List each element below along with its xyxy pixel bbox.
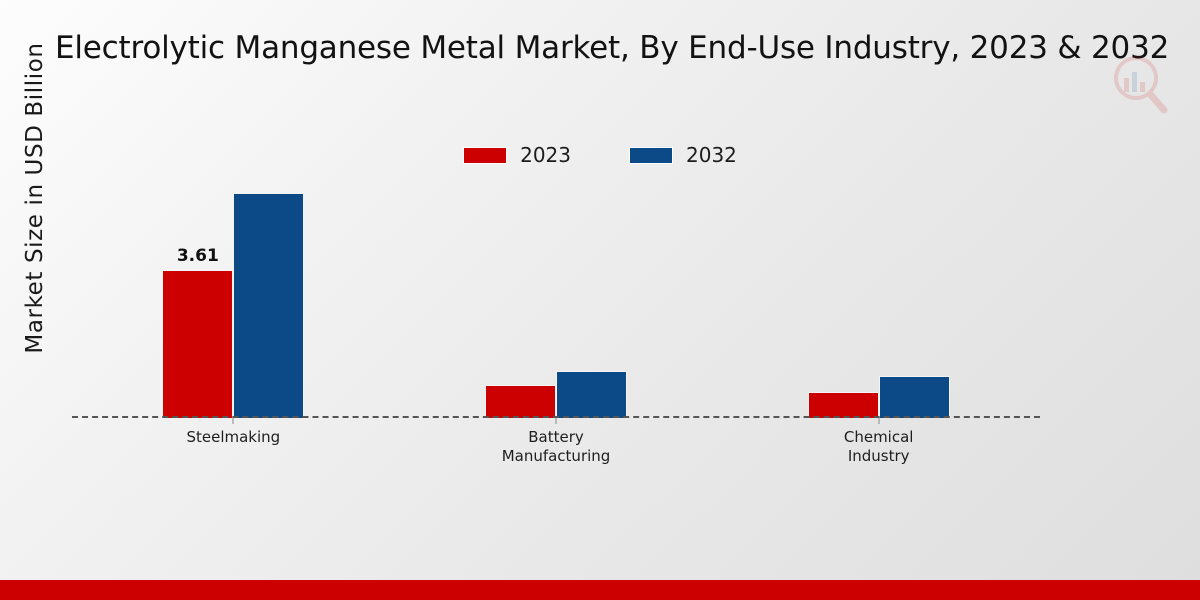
page-title: Electrolytic Manganese Metal Market, By …	[55, 30, 1145, 66]
bars	[395, 172, 718, 418]
bar-2032-steelmaking[interactable]	[233, 193, 304, 418]
bar-2032-battery-manufacturing[interactable]	[556, 371, 627, 418]
legend-item-2032[interactable]: 2032	[629, 143, 737, 167]
legend-label-2032: 2032	[686, 143, 737, 167]
bar-groups: 3.61 Steelmaking	[72, 172, 1040, 418]
legend-label-2023: 2023	[520, 143, 571, 167]
footer-accent-bar	[0, 580, 1200, 600]
x-axis-tick	[556, 418, 557, 424]
bar-group-steelmaking: 3.61 Steelmaking	[72, 172, 395, 418]
bars: 3.61	[72, 172, 395, 418]
x-axis-tick	[878, 418, 879, 424]
x-axis-baseline	[72, 416, 1040, 418]
legend-swatch-2032	[629, 147, 673, 164]
bar-2023-chemical-industry[interactable]	[808, 392, 879, 418]
bar-group-chemical-industry: Chemical Industry	[717, 172, 1040, 418]
y-axis-label: Market Size in USD Billion	[22, 18, 48, 378]
bar-group-battery-manufacturing: Battery Manufacturing	[395, 172, 718, 418]
x-axis-category-label: Battery Manufacturing	[446, 428, 666, 466]
chart-infographic: Electrolytic Manganese Metal Market, By …	[0, 0, 1200, 600]
bar-2023-battery-manufacturing[interactable]	[485, 385, 556, 418]
legend-swatch-2023	[463, 147, 507, 164]
bar-value-label: 3.61	[177, 246, 219, 266]
bar-2032-chemical-industry[interactable]	[879, 376, 950, 418]
bar-2023-steelmaking[interactable]: 3.61	[162, 270, 233, 418]
x-axis-tick	[233, 418, 234, 424]
x-axis-category-label: Steelmaking	[123, 428, 343, 447]
x-axis-category-label: Chemical Industry	[769, 428, 989, 466]
plot-area: 3.61 Steelmaking	[72, 172, 1040, 418]
legend-item-2023[interactable]: 2023	[463, 143, 571, 167]
bars	[717, 172, 1040, 418]
chart-legend: 2023 2032	[0, 143, 1200, 167]
